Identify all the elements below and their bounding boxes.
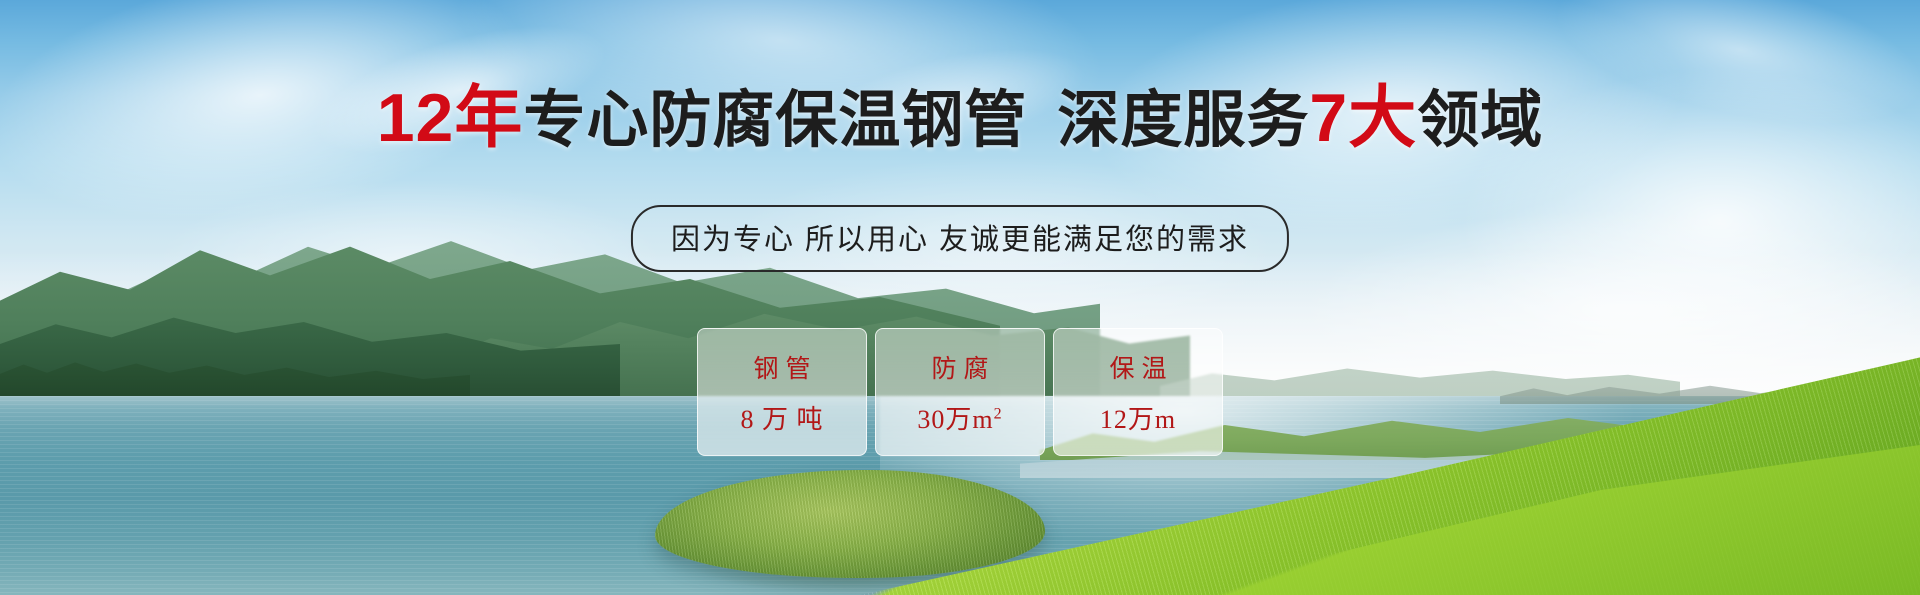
- headline-fields-unit: 大: [1348, 80, 1417, 156]
- stat-card-value: 12万m: [1100, 399, 1176, 436]
- stat-card-title: 保温: [1102, 349, 1173, 385]
- stat-card-anticorrosion[interactable]: 防腐 30万m2: [875, 328, 1045, 456]
- stat-value-text: 8 万 吨: [740, 405, 823, 434]
- stat-card-value: 8 万 吨: [740, 399, 823, 436]
- stat-card-insulation[interactable]: 保温 12万m: [1053, 328, 1223, 456]
- stat-value-superscript: 2: [994, 405, 1003, 422]
- page-title: 12年专心防腐保温钢管深度服务7大领域: [0, 84, 1920, 152]
- hero-banner: 12年专心防腐保温钢管深度服务7大领域 因为专心 所以用心 友诚更能满足您的需求…: [0, 0, 1920, 595]
- stat-card-title: 钢管: [746, 349, 817, 385]
- stat-card-value: 30万m2: [917, 399, 1002, 436]
- stat-value-text: 12万m: [1100, 405, 1176, 434]
- stat-value-text: 30万m: [917, 405, 993, 434]
- stat-card-title: 防腐: [924, 349, 995, 385]
- headline-years-number: 12: [377, 80, 455, 156]
- headline-service-phrase: 深度服务: [1057, 86, 1309, 155]
- headline-main-phrase: 专心防腐保温钢管: [523, 86, 1027, 155]
- stat-card-group: 钢管 8 万 吨 防腐 30万m2 保温 12万m: [697, 328, 1223, 456]
- headline-fields-number: 7: [1309, 80, 1348, 156]
- headline-years-unit: 年: [454, 80, 523, 156]
- subtitle-pill: 因为专心 所以用心 友诚更能满足您的需求: [631, 205, 1289, 272]
- headline-fields-word: 领域: [1417, 86, 1543, 155]
- stat-card-steel-pipe[interactable]: 钢管 8 万 吨: [697, 328, 867, 456]
